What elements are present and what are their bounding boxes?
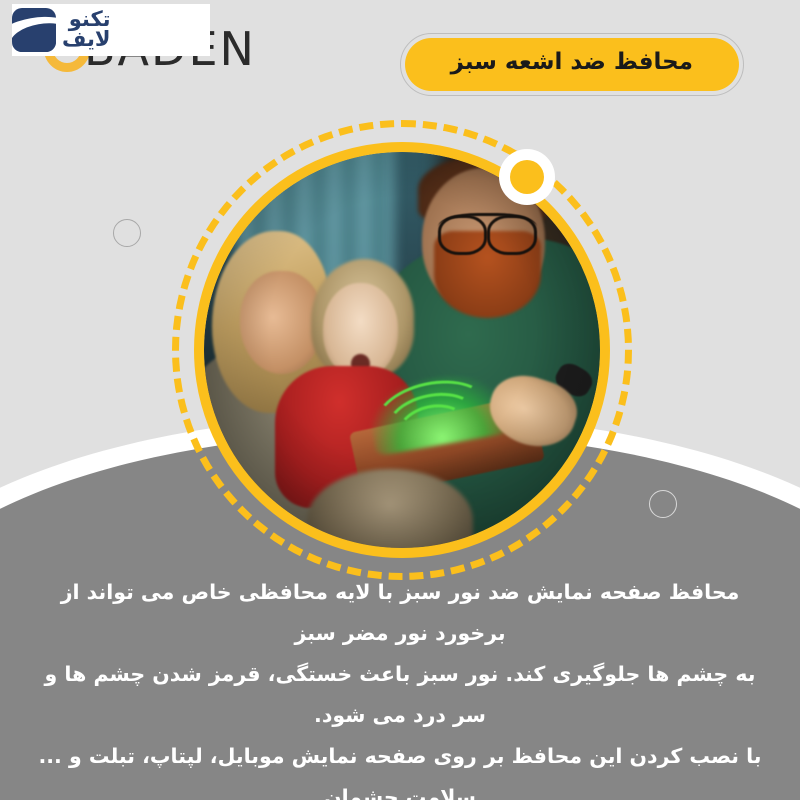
yellow-dot-icon [510,160,544,194]
techno-life-watermark: تکنو لایف [12,4,210,56]
description-line-3: با نصب کردن این محافظ بر روی صفحه نمایش … [34,736,766,800]
watermark-line-2: لایف [62,30,111,50]
badge-outline: محافظ ضد اشعه سبز [400,33,744,96]
description-line-1: محافظ صفحه نمایش ضد نور سبز با لایه محاف… [34,572,766,654]
techno-life-mark-icon [12,8,56,52]
family-tablet-photo [204,152,600,548]
hero-photo-clip [204,152,600,548]
hero-image-circle [194,142,610,558]
promo-banner: BADEN تکنو لایف محافظ ضد اشعه سبز [0,0,800,800]
description-line-2: به چشم ها جلوگیری کند. نور سبز باعث خستگ… [34,654,766,736]
watermark-text: تکنو لایف [62,10,111,50]
white-circle-yellow-center-icon [499,149,555,205]
product-badge[interactable]: محافظ ضد اشعه سبز [405,38,739,91]
outline-circle-icon-left [113,219,141,247]
description-block: محافظ صفحه نمایش ضد نور سبز با لایه محاف… [0,572,800,800]
outline-circle-icon-right [649,490,677,518]
